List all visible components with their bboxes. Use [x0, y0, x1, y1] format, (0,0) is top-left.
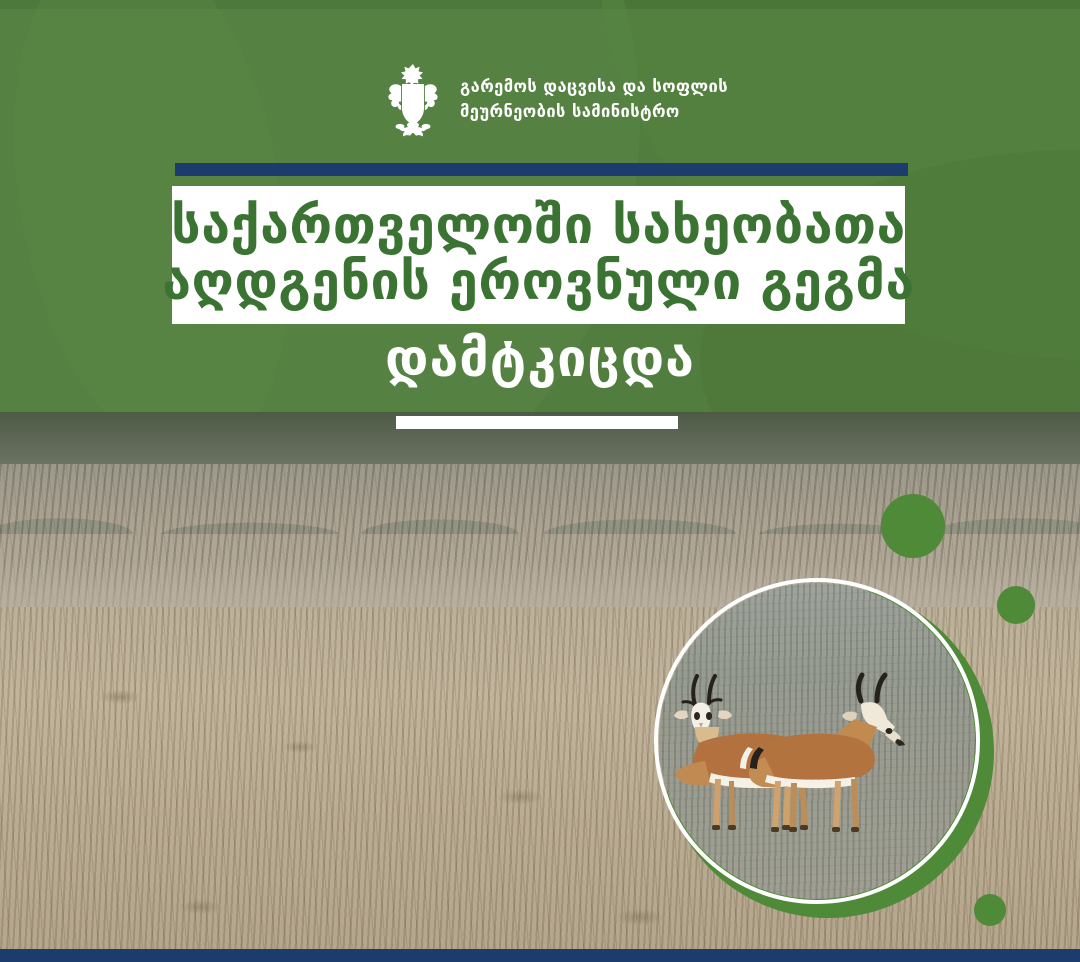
inset-ring-white	[654, 578, 980, 904]
green-circle-medium	[997, 586, 1035, 624]
page-title-line-3: დამტკიცდა	[0, 332, 1080, 387]
title-box: საქართველოში სახეობათა აღდგენის ეროვნული…	[172, 186, 905, 324]
ministry-name-line-1: გარემოს დაცვისა და სოფლის	[460, 77, 728, 98]
georgia-coat-of-arms-icon	[380, 62, 446, 138]
gazelle-inset-circle	[654, 578, 994, 918]
green-circle-large	[881, 494, 945, 558]
ministry-name-line-2: მეურნეობის სამინისტრო	[460, 102, 728, 123]
navy-accent-bar	[175, 163, 908, 176]
ministry-name: გარემოს დაცვისა და სოფლის მეურნეობის სამ…	[460, 77, 728, 122]
white-underline-bar	[396, 416, 678, 429]
page-title-line-1: საქართველოში სახეობათა	[171, 200, 906, 254]
poster-canvas: გარემოს დაცვისა და სოფლის მეურნეობის სამ…	[0, 0, 1080, 962]
navy-footer-bar	[0, 949, 1080, 962]
green-circle-small	[974, 894, 1006, 926]
ministry-lockup: გარემოს დაცვისა და სოფლის მეურნეობის სამ…	[380, 62, 728, 138]
page-title-line-2: აღდგენის ეროვნული გეგმა	[162, 256, 915, 310]
